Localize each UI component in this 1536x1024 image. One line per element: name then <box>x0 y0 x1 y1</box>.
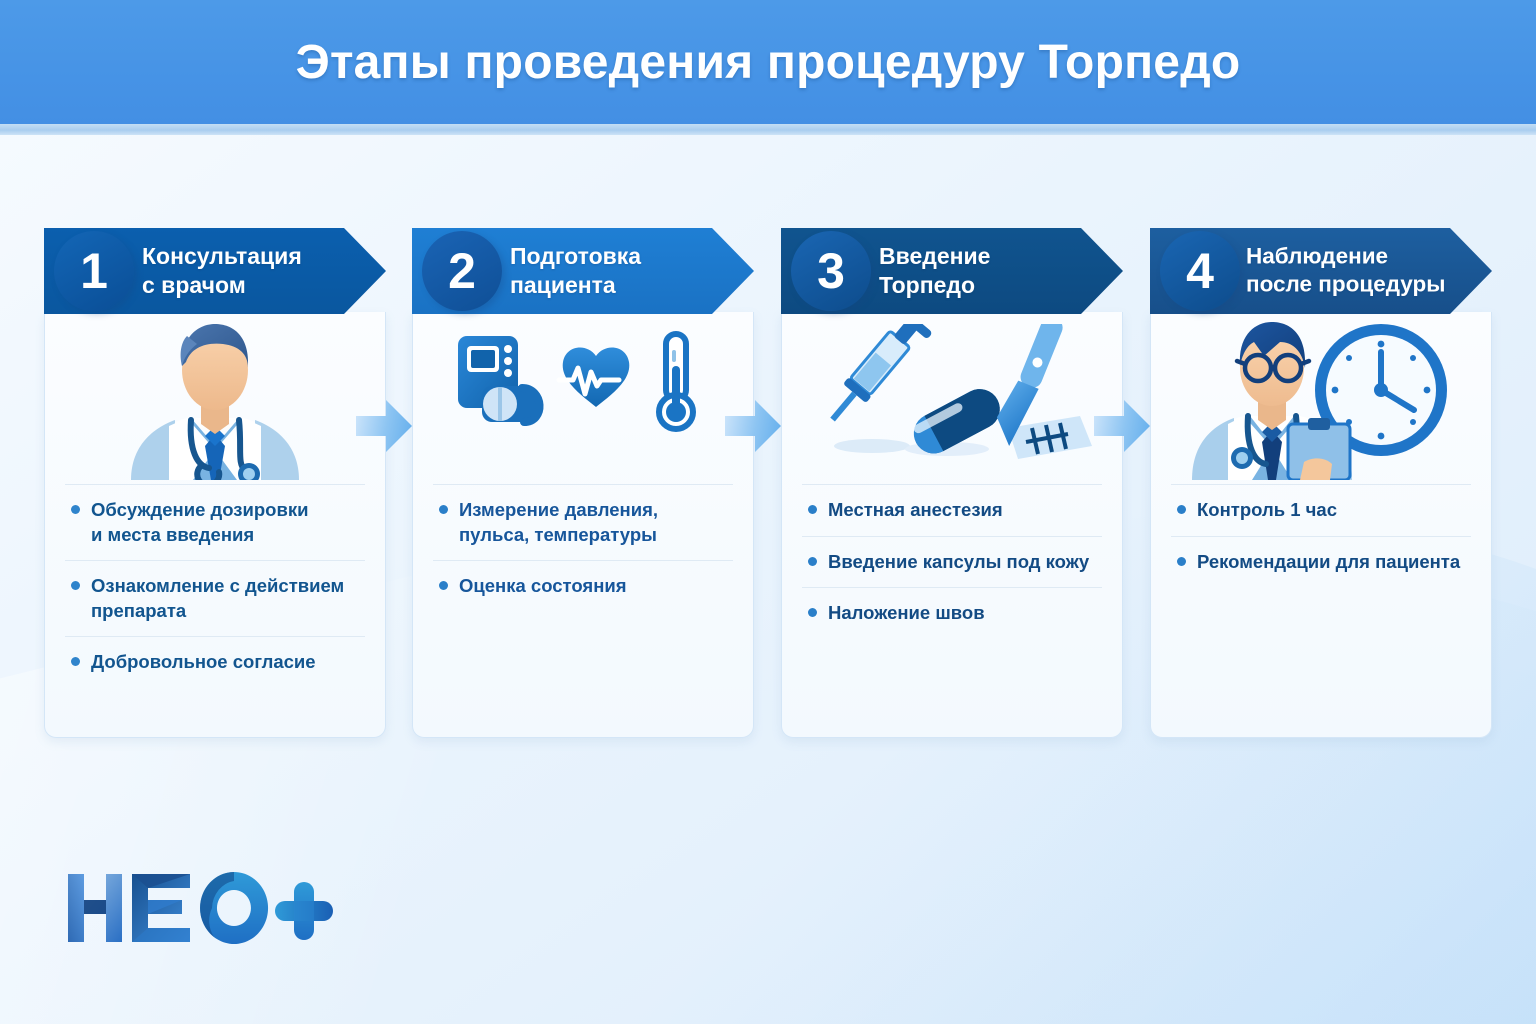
step-1-bullet-list: Обсуждение дозировки и места введения Оз… <box>45 484 385 688</box>
step-2-panel: Измерение давления, пульса, температуры … <box>412 312 754 738</box>
step-3-title: Введение Торпедо <box>879 242 990 300</box>
neo-plus-logo-mark <box>66 868 346 948</box>
bullet-dot-icon <box>808 557 817 566</box>
bullet-text: Измерение давления, пульса, температуры <box>459 498 658 547</box>
steps-row: 1 Консультация с врачом <box>44 228 1492 740</box>
step-4-panel: Контроль 1 час Рекомендации для пациента <box>1150 312 1492 738</box>
step-card-2[interactable]: 2 Подготовка пациента <box>412 228 754 738</box>
bullet-text: Контроль 1 час <box>1197 498 1337 523</box>
right-arrow-icon <box>725 400 781 452</box>
bullet-dot-icon <box>439 505 448 514</box>
step-card-4[interactable]: 4 Наблюдение после процедуры <box>1150 228 1492 738</box>
step-4-header: 4 Наблюдение после процедуры <box>1150 228 1492 314</box>
flow-arrow-3 <box>1094 400 1150 452</box>
list-item: Добровольное согласие <box>65 636 365 688</box>
title-underline-bar <box>0 124 1536 135</box>
step-3-header: 3 Введение Торпедо <box>781 228 1123 314</box>
bullet-text: Добровольное согласие <box>91 650 316 675</box>
bullet-dot-icon <box>71 657 80 666</box>
step-4-bullet-list: Контроль 1 час Рекомендации для пациента <box>1151 484 1491 587</box>
list-item: Измерение давления, пульса, температуры <box>433 484 733 560</box>
step-3-illustration <box>782 312 1122 484</box>
bullet-dot-icon <box>439 581 448 590</box>
list-item: Рекомендации для пациента <box>1171 536 1471 588</box>
bullet-dot-icon <box>71 505 80 514</box>
title-bar: Этапы проведения процедуру Торпедо <box>0 0 1536 124</box>
right-arrow-icon <box>356 400 412 452</box>
step-1-title: Консультация с врачом <box>142 242 302 300</box>
flow-arrow-1 <box>356 400 412 452</box>
bullet-text: Введение капсулы под кожу <box>828 550 1089 575</box>
bullet-text: Ознакомление с действием препарата <box>91 574 344 623</box>
infographic-stage: Этапы проведения процедуру Торпедо 1 Кон… <box>0 0 1536 1024</box>
right-arrow-icon <box>1094 400 1150 452</box>
step-4-number-badge: 4 <box>1160 231 1240 311</box>
doctor-stethoscope-icon <box>105 314 325 480</box>
bullet-dot-icon <box>808 608 817 617</box>
step-3-number-badge: 3 <box>791 231 871 311</box>
step-2-illustration <box>413 312 753 484</box>
list-item: Введение капсулы под кожу <box>802 536 1102 588</box>
step-1-illustration <box>45 312 385 484</box>
list-item: Обсуждение дозировки и места введения <box>65 484 365 560</box>
syringe-capsule-scalpel-icon <box>812 324 1092 464</box>
flow-arrow-2 <box>725 400 781 452</box>
step-2-number-badge: 2 <box>422 231 502 311</box>
bullet-dot-icon <box>1177 557 1186 566</box>
step-3-panel: Местная анестезия Введение капсулы под к… <box>781 312 1123 738</box>
bullet-text: Оценка состояния <box>459 574 627 599</box>
list-item: Наложение швов <box>802 587 1102 639</box>
step-1-number-badge: 1 <box>54 231 134 311</box>
page-title: Этапы проведения процедуру Торпедо <box>296 35 1241 90</box>
bullet-dot-icon <box>808 505 817 514</box>
bullet-dot-icon <box>71 581 80 590</box>
bullet-dot-icon <box>1177 505 1186 514</box>
step-1-panel: Обсуждение дозировки и места введения Оз… <box>44 312 386 738</box>
bullet-text: Рекомендации для пациента <box>1197 550 1460 575</box>
bullet-text: Наложение швов <box>828 601 985 626</box>
neo-plus-logo <box>66 868 346 948</box>
step-card-1[interactable]: 1 Консультация с врачом <box>44 228 386 738</box>
list-item: Местная анестезия <box>802 484 1102 536</box>
step-1-header: 1 Консультация с врачом <box>44 228 386 314</box>
bullet-text: Обсуждение дозировки и места введения <box>91 498 308 547</box>
bullet-text: Местная анестезия <box>828 498 1003 523</box>
step-3-bullet-list: Местная анестезия Введение капсулы под к… <box>782 484 1122 639</box>
step-2-bullet-list: Измерение давления, пульса, температуры … <box>413 484 753 612</box>
blood-pressure-heart-thermometer-icon <box>448 328 718 458</box>
step-4-title: Наблюдение после процедуры <box>1246 243 1445 300</box>
list-item: Контроль 1 час <box>1171 484 1471 536</box>
list-item: Оценка состояния <box>433 560 733 612</box>
step-2-header: 2 Подготовка пациента <box>412 228 754 314</box>
step-card-3[interactable]: 3 Введение Торпедо <box>781 228 1123 738</box>
step-4-illustration <box>1151 312 1491 484</box>
list-item: Ознакомление с действием препарата <box>65 560 365 636</box>
doctor-clipboard-clock-icon <box>1176 312 1466 480</box>
step-2-title: Подготовка пациента <box>510 242 641 300</box>
